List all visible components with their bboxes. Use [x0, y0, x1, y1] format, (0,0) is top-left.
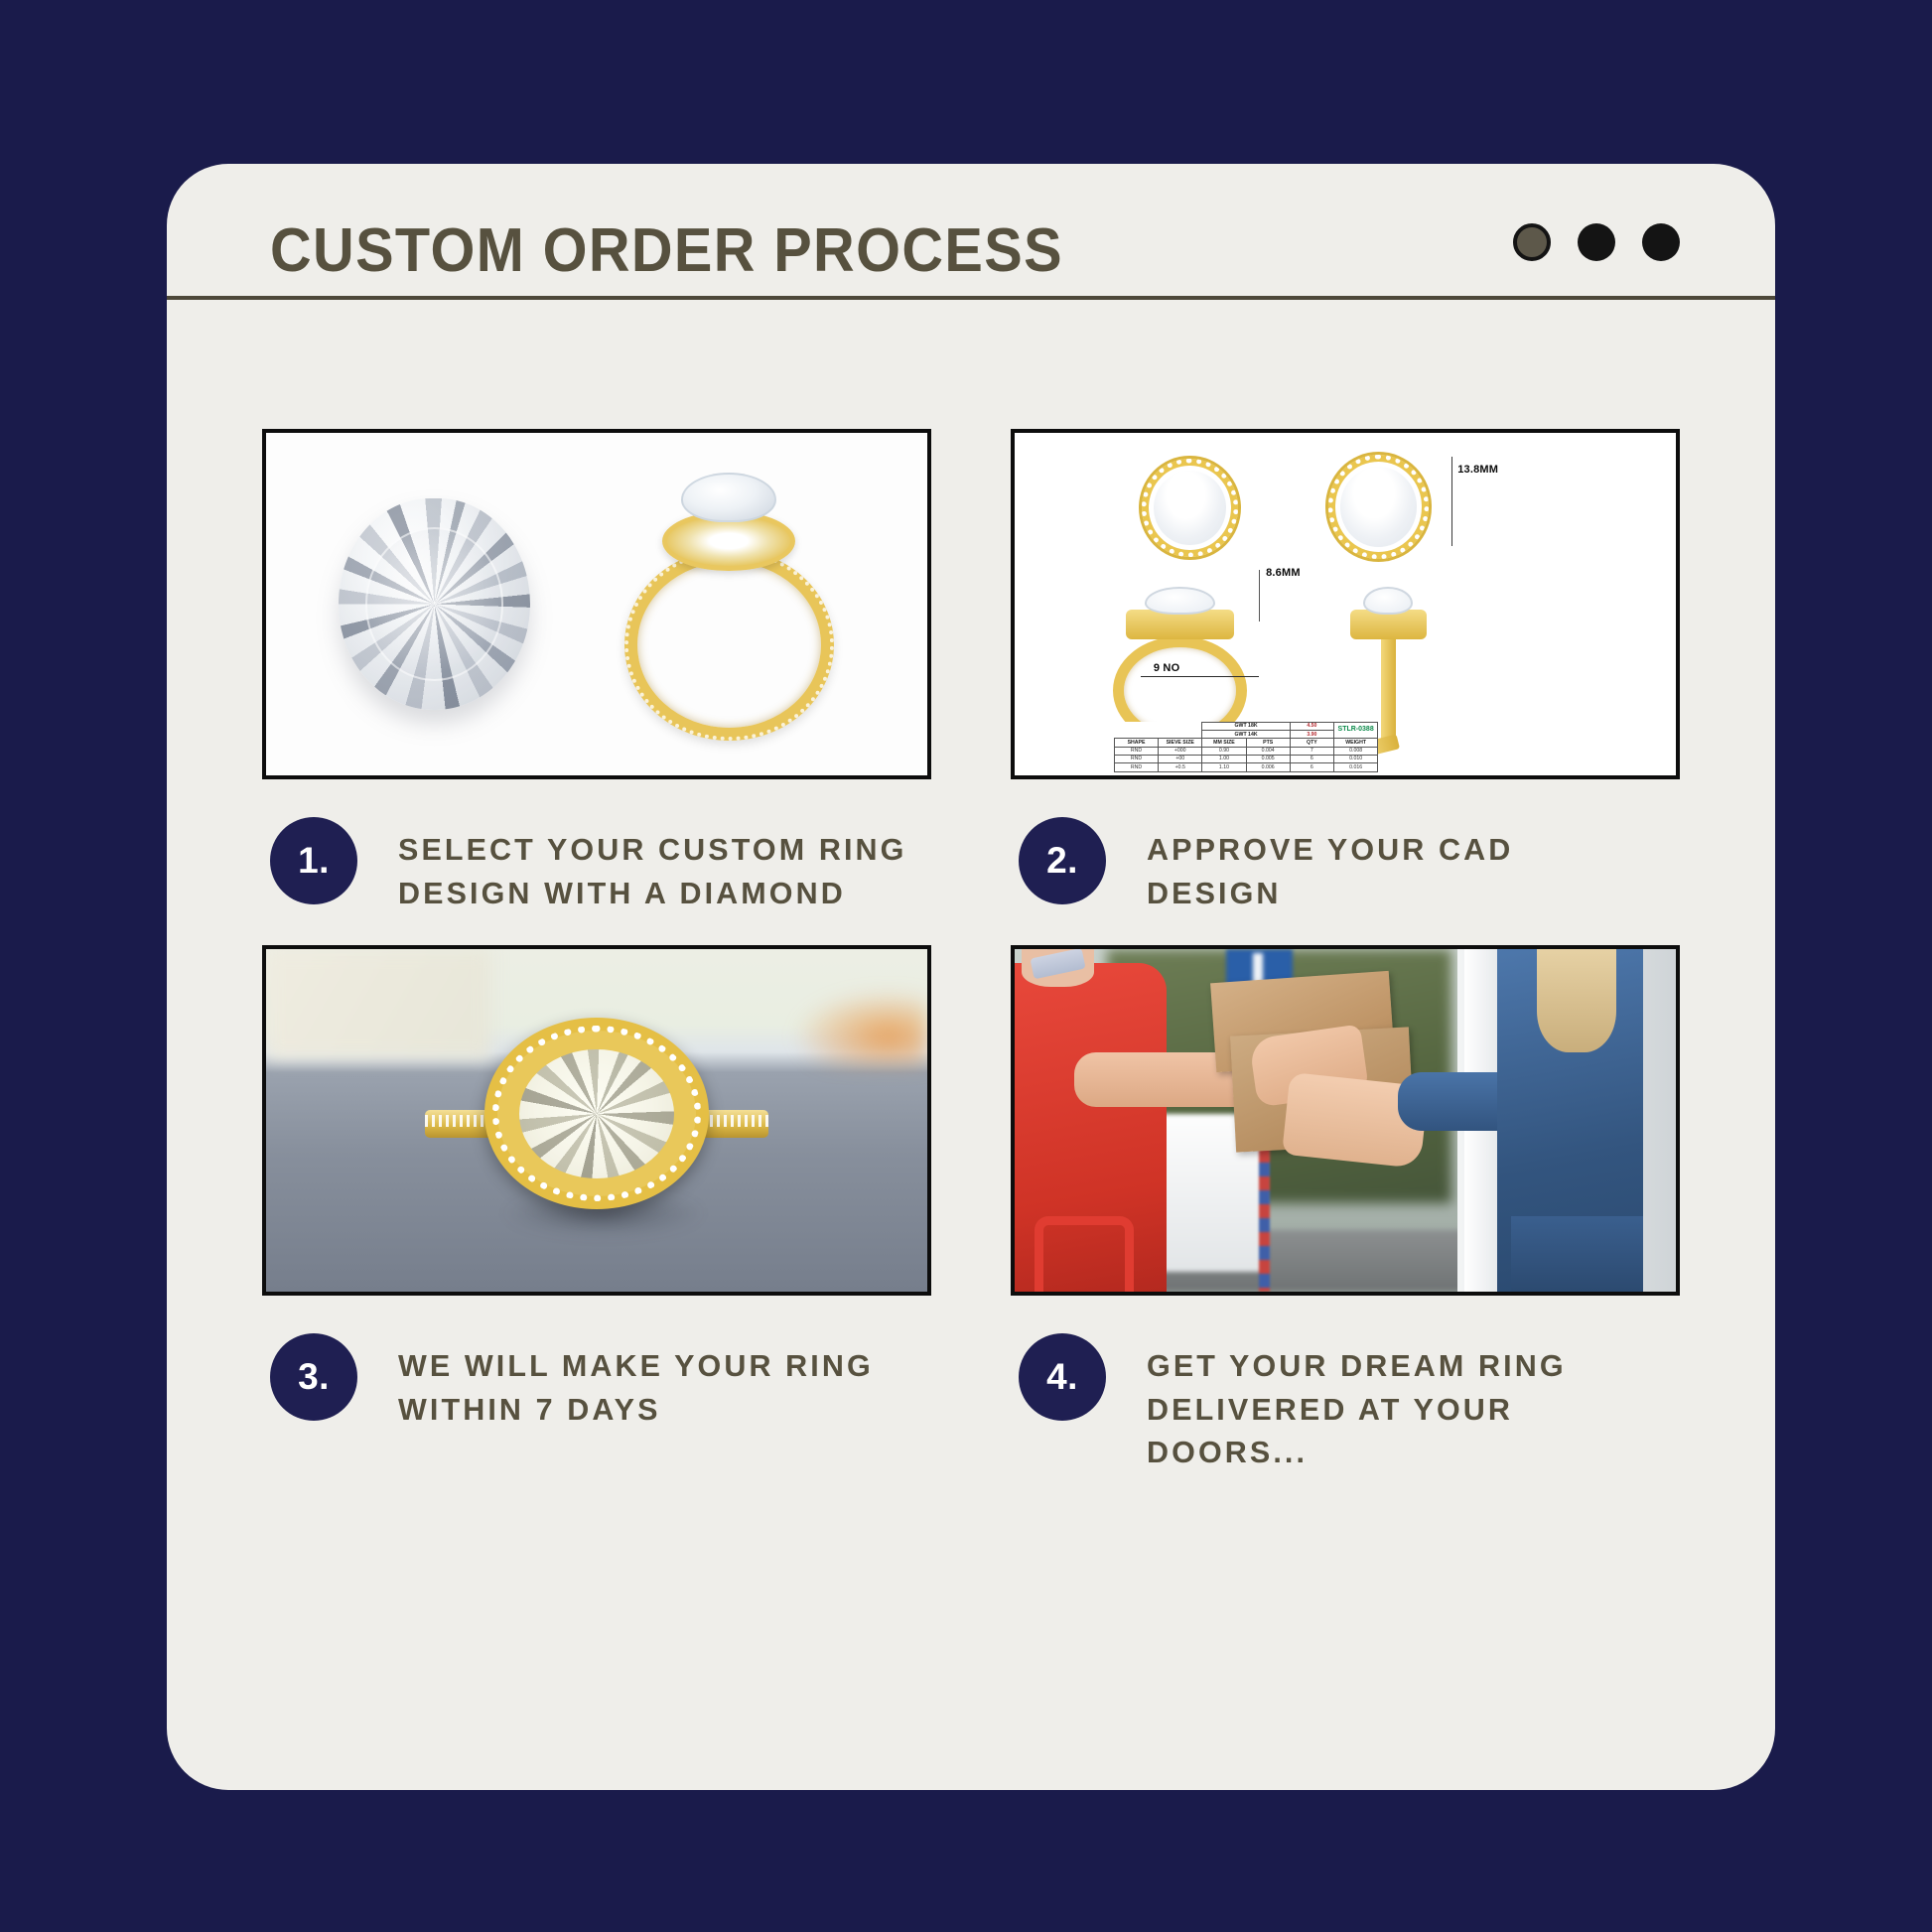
cad-header-pts: PTS — [1246, 739, 1290, 747]
cad-dimension-ring-size: 9 NO — [1154, 662, 1179, 674]
cad-cell-pts: 0.005 — [1246, 756, 1290, 763]
steps-grid: 1. SELECT YOUR CUSTOM RING DESIGN WITH A… — [167, 367, 1775, 1475]
ring-photo-center-stone — [519, 1049, 674, 1178]
step-3-badge: 3. — [270, 1333, 357, 1421]
gold-halo-ring-illustration — [610, 468, 848, 742]
card-header: CUSTOM ORDER PROCESS — [167, 164, 1775, 367]
cad-persp-halo — [1328, 455, 1429, 558]
cad-cell-mm: 1.00 — [1202, 756, 1246, 763]
cad-table-row-gwt18k: GWT 18K 4.50 STLR-0388 — [1114, 722, 1377, 730]
cad-table-row: RND +000 0.90 0.004 7 0.008 — [1114, 747, 1377, 755]
cad-cell-shape: RND — [1114, 747, 1158, 755]
cad-cell-shape: RND — [1114, 756, 1158, 763]
step-card-2[interactable]: 13.8MM 8.6MM 9 NO GWT 18K 4.50 STLR-0388 — [1011, 429, 1680, 915]
cad-dimension-halo-width: 13.8MM — [1457, 464, 1498, 476]
window-dot-solid-1-icon[interactable] — [1578, 223, 1615, 261]
cad-table-header-row: SHAPE SIEVE SIZE MM SIZE PTS QTY WEIGHT — [1114, 739, 1377, 747]
cad-cell-sieve: +0.5 — [1159, 763, 1202, 771]
cad-cell-gwt14k-label: GWT 14K — [1202, 731, 1290, 739]
cad-cell-weight: 0.008 — [1333, 747, 1377, 755]
cad-header-mm-size: MM SIZE — [1202, 739, 1246, 747]
ring-photo-halo — [484, 1018, 709, 1209]
cad-header-weight: WEIGHT — [1333, 739, 1377, 747]
cad-dimension-center-stone: 8.6MM — [1266, 567, 1301, 579]
cad-header-qty: QTY — [1290, 739, 1333, 747]
ring-photo-background-glow — [795, 991, 927, 1066]
cad-cell-sieve: +00 — [1159, 756, 1202, 763]
poster-canvas: CUSTOM ORDER PROCESS — [0, 0, 1932, 1932]
cad-header-shape: SHAPE — [1114, 739, 1158, 747]
step-4-figure-delivery — [1011, 945, 1680, 1296]
step-3-label: WE WILL MAKE YOUR RING WITHIN 7 DAYS — [398, 1333, 914, 1432]
cad-front-stone — [1145, 587, 1214, 615]
cad-cell-weight: 0.016 — [1333, 763, 1377, 771]
step-2-label: APPROVE YOUR CAD DESIGN — [1147, 817, 1613, 915]
cad-spec-table: GWT 18K 4.50 STLR-0388 GWT 14K 3.90 — [1114, 722, 1378, 772]
step-card-4[interactable]: 4. GET YOUR DREAM RING DELIVERED AT YOUR… — [1011, 945, 1680, 1475]
step-4-label: GET YOUR DREAM RING DELIVERED AT YOUR DO… — [1147, 1333, 1663, 1475]
header-divider — [167, 296, 1775, 300]
cad-cell-gwt14k-value: 3.90 — [1290, 731, 1333, 739]
cad-cell-qty: 6 — [1290, 756, 1333, 763]
cad-top-halo — [1142, 459, 1237, 557]
cad-cell-mm: 0.90 — [1202, 747, 1246, 755]
cad-cell-blank-2 — [1159, 722, 1202, 730]
cad-cell-mm: 1.10 — [1202, 763, 1246, 771]
cad-view-top — [1127, 450, 1253, 587]
cad-dimension-tick — [1259, 570, 1260, 621]
step-4-caption: 4. GET YOUR DREAM RING DELIVERED AT YOUR… — [1011, 1333, 1680, 1475]
ring-band-shape — [624, 549, 834, 741]
window-controls — [1513, 223, 1680, 261]
cad-cell-qty: 6 — [1290, 763, 1333, 771]
cad-dimension-line-vertical — [1451, 457, 1452, 546]
cad-cell-blank-4 — [1159, 731, 1202, 739]
cad-cell-weight: 0.010 — [1333, 756, 1377, 763]
step-card-3[interactable]: 3. WE WILL MAKE YOUR RING WITHIN 7 DAYS — [262, 945, 931, 1475]
step-1-label: SELECT YOUR CUSTOM RING DESIGN WITH A DI… — [398, 817, 914, 915]
window-dot-solid-2-icon[interactable] — [1642, 223, 1680, 261]
cad-cell-blank-3 — [1114, 731, 1158, 739]
cad-profile-stone — [1363, 587, 1413, 615]
cad-cell-pts: 0.006 — [1246, 763, 1290, 771]
cad-cell-gwt18k-label: GWT 18K — [1202, 722, 1290, 730]
ring-photo-background-left — [266, 949, 490, 1058]
cad-cell-gwt18k-value: 4.50 — [1290, 722, 1333, 730]
step-1-badge: 1. — [270, 817, 357, 904]
cad-view-perspective — [1312, 447, 1445, 591]
ring-center-stone-shape — [681, 473, 776, 522]
cad-cell-blank-1 — [1114, 722, 1158, 730]
cad-table-row: RND +00 1.00 0.005 6 0.010 — [1114, 756, 1377, 763]
cad-profile-stem — [1381, 626, 1396, 745]
step-1-figure-select-design — [262, 429, 931, 779]
page-title: CUSTOM ORDER PROCESS — [270, 215, 1063, 286]
cad-cell-qty: 7 — [1290, 747, 1333, 755]
step-3-caption: 3. WE WILL MAKE YOUR RING WITHIN 7 DAYS — [262, 1333, 931, 1432]
cad-cell-pts: 0.004 — [1246, 747, 1290, 755]
cad-dimension-line-horizontal — [1141, 676, 1260, 677]
loose-round-diamond-icon — [339, 498, 530, 711]
cad-header-sieve-size: SIEVE SIZE — [1159, 739, 1202, 747]
step-2-badge: 2. — [1019, 817, 1106, 904]
delivery-hand-truck — [1035, 1216, 1134, 1292]
step-2-caption: 2. APPROVE YOUR CAD DESIGN — [1011, 817, 1680, 915]
cad-cell-sieve: +000 — [1159, 747, 1202, 755]
customer-hair — [1537, 949, 1616, 1052]
browser-window-card: CUSTOM ORDER PROCESS — [167, 164, 1775, 1790]
window-dot-muted-icon[interactable] — [1513, 223, 1551, 261]
customer-jeans — [1511, 1216, 1643, 1292]
cad-drawing-stage: 13.8MM 8.6MM 9 NO GWT 18K 4.50 STLR-0388 — [1015, 433, 1676, 775]
cad-table-row: RND +0.5 1.10 0.006 6 0.016 — [1114, 763, 1377, 771]
cad-cell-shape: RND — [1114, 763, 1158, 771]
step-2-figure-cad-design: 13.8MM 8.6MM 9 NO GWT 18K 4.50 STLR-0388 — [1011, 429, 1680, 779]
step-3-figure-finished-ring — [262, 945, 931, 1296]
step-1-caption: 1. SELECT YOUR CUSTOM RING DESIGN WITH A… — [262, 817, 931, 915]
step-4-badge: 4. — [1019, 1333, 1106, 1421]
cad-cell-style-code: STLR-0388 — [1333, 722, 1377, 739]
step-card-1[interactable]: 1. SELECT YOUR CUSTOM RING DESIGN WITH A… — [262, 429, 931, 915]
